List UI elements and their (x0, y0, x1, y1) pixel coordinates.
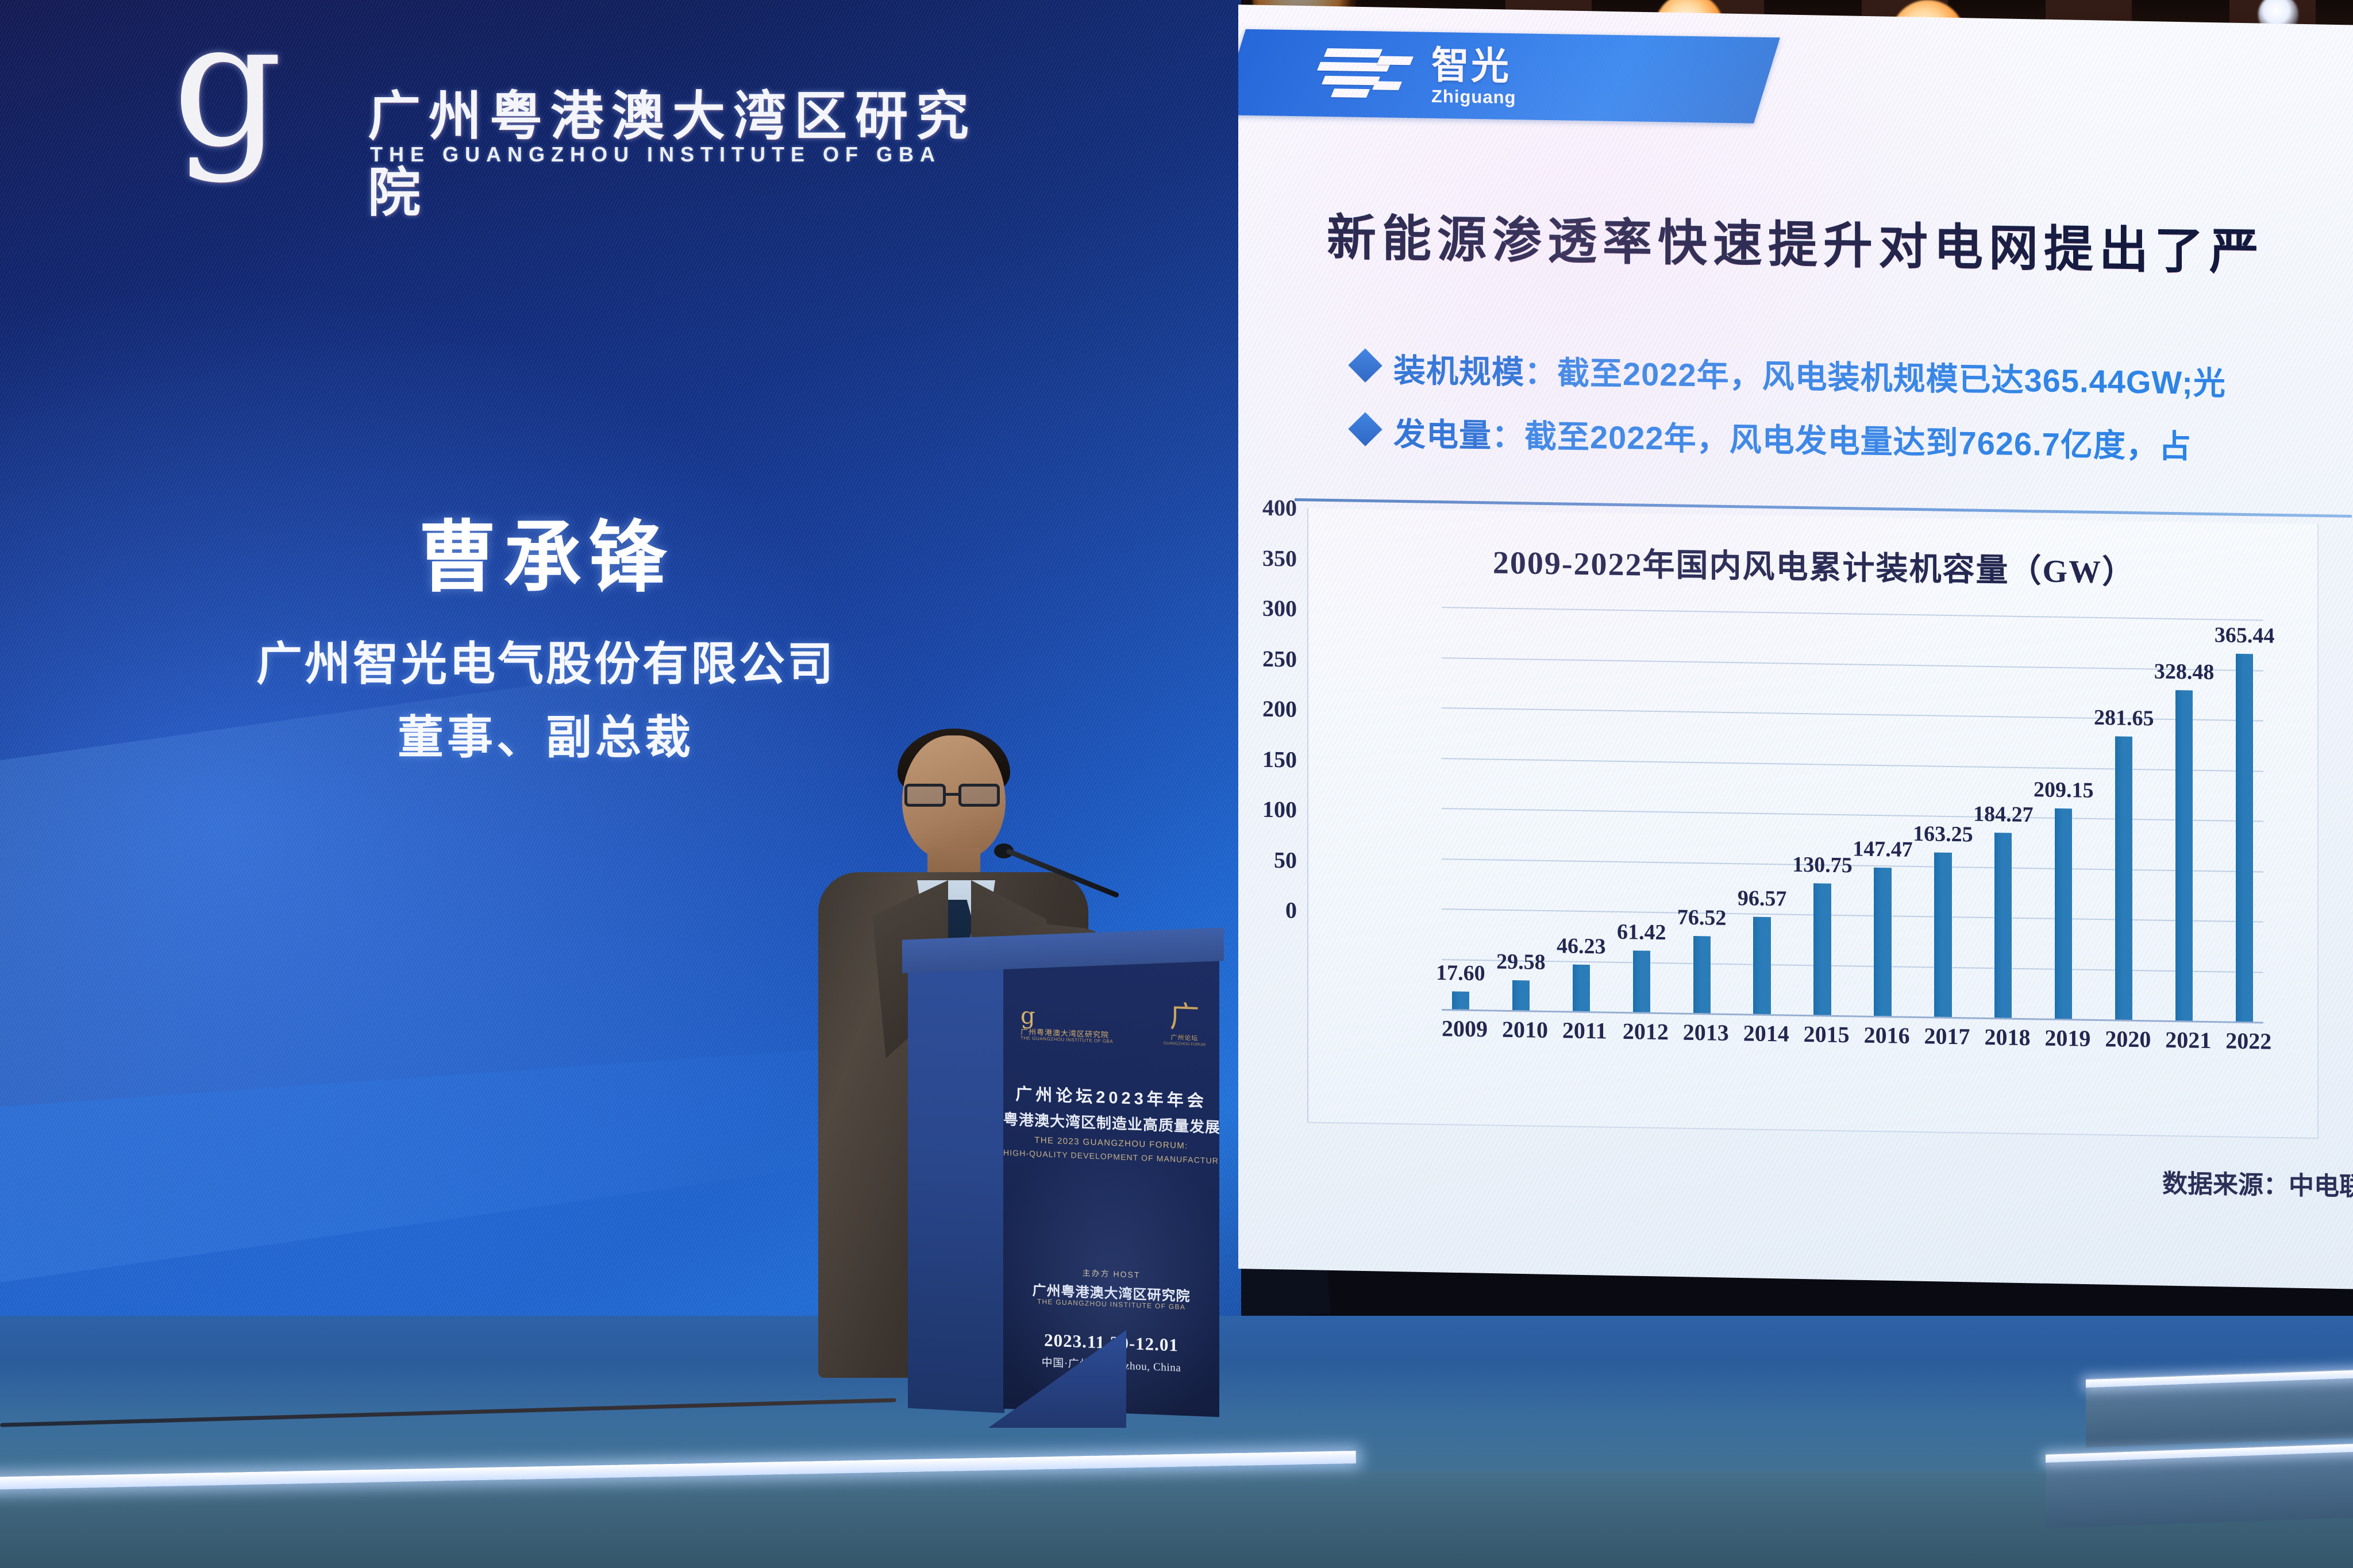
speaker-identity-block: 曹承锋 广州智光电气股份有限公司 董事、副总裁 (103, 494, 988, 767)
chart-bar-item: 46.23 (1562, 608, 1600, 1011)
y-tick-label: 400 (1262, 494, 1297, 522)
x-tick-label: 2009 (1442, 1015, 1480, 1042)
podium-headline: 广州论坛2023年年会 (1003, 1080, 1219, 1112)
chart-bar-item: 209.15 (2044, 617, 2082, 1019)
y-tick-label: 200 (1262, 695, 1297, 723)
podium-host-label: 主办方 HOST (1003, 1264, 1219, 1284)
x-tick-label: 2019 (2044, 1024, 2082, 1052)
bar-value-label: 17.60 (1436, 960, 1485, 986)
chart-bar-item: 184.27 (1984, 615, 2022, 1018)
bar-value-label: 365.44 (2215, 623, 2275, 649)
bullet-item: 发电量：截至2022年，风电发电量达到7626.7亿度，占 (1353, 408, 2353, 472)
zhiguang-bars-icon (1319, 46, 1411, 103)
chart-bar-item: 61.42 (1623, 610, 1661, 1012)
bar-value-label: 209.15 (2034, 777, 2094, 803)
bar-value-label: 147.47 (1853, 836, 1913, 862)
institute-logo-lockup: g 广州粤港澳大湾区研究院 THE GUANGZHOU INSTITUTE OF… (172, 6, 988, 190)
bullet-lead: 发电量 (1393, 416, 1492, 454)
y-tick-label: 50 (1274, 846, 1297, 874)
bar-value-label: 61.42 (1617, 919, 1666, 945)
institute-name-en: THE GUANGZHOU INSTITUTE OF GBA (370, 142, 941, 167)
stage-front-face (0, 1471, 2353, 1568)
chart-bar (1512, 980, 1530, 1010)
podium-forum-logo: 广 广州论坛 GUANGZHOU FORUM (1164, 1003, 1206, 1047)
zhiguang-name-en: Zhiguang (1431, 87, 1516, 106)
podium-subline: 粤港澳大湾区制造业高质量发展 (1003, 1108, 1219, 1137)
chart-bar (1693, 936, 1711, 1013)
bar-value-label: 130.75 (1792, 852, 1853, 879)
slide-bullet-list: 装机规模：截至2022年，风电装机规模已达365.44GW;光 发电量：截至20… (1353, 344, 2353, 489)
bar-value-label: 29.58 (1496, 949, 1546, 975)
y-tick-label: 100 (1262, 796, 1297, 823)
chart-bar (2236, 654, 2253, 1022)
podium-gba-en: THE GUANGZHOU INSTITUTE OF GBA (1020, 1036, 1113, 1045)
presentation-slide: 智光 Zhiguang 新能源渗透率快速提升对电网提出了严 装机规模：截至202… (1238, 5, 2353, 1289)
podium: g 广州粤港澳大湾区研究院 THE GUANGZHOU INSTITUTE OF… (902, 934, 1224, 1422)
chart-bar (2055, 808, 2072, 1019)
zhiguang-logo-badge: 智光 Zhiguang (1238, 29, 1780, 124)
podium-gba-mark: g (1020, 1004, 1113, 1031)
stage-photo: g 广州粤港澳大湾区研究院 THE GUANGZHOU INSTITUTE OF… (0, 0, 2353, 1568)
chart-bar-item: 96.57 (1743, 611, 1781, 1014)
y-tick-label: 0 (1285, 896, 1297, 923)
glasses-icon (903, 784, 1006, 808)
diamond-bullet-icon (1348, 412, 1382, 446)
speaker-organization: 广州智光电气股份有限公司 (103, 627, 988, 694)
bar-value-label: 328.48 (2154, 659, 2215, 685)
chart-bar (1573, 965, 1590, 1011)
x-tick-label: 2021 (2165, 1026, 2203, 1054)
chart-bar (2175, 690, 2193, 1020)
x-tick-label: 2013 (1683, 1019, 1721, 1046)
chart-bar-item: 147.47 (1864, 614, 1902, 1016)
zhiguang-name-cn: 智光 (1431, 45, 1516, 84)
bar-value-label: 96.57 (1738, 885, 1787, 911)
chart-bar-item: 76.52 (1683, 611, 1721, 1014)
x-tick-label: 2016 (1864, 1022, 1902, 1049)
bar-value-label: 184.27 (1973, 801, 2034, 827)
x-tick-label: 2015 (1804, 1020, 1842, 1048)
y-tick-label: 300 (1262, 595, 1297, 622)
x-tick-label: 2022 (2225, 1027, 2263, 1055)
x-tick-label: 2017 (1924, 1022, 1962, 1050)
podium-host-cn: 广州粤港澳大湾区研究院 (1003, 1278, 1219, 1306)
podium-forum-cap: 广州论坛 (1164, 1032, 1206, 1043)
chart-bar-item: 281.65 (2105, 617, 2143, 1020)
chart-bar (1874, 868, 1891, 1016)
speaker-name: 曹承锋 (103, 494, 988, 607)
x-tick-label: 2012 (1623, 1018, 1661, 1045)
podium-english-line-1: THE 2023 GUANGZHOU FORUM: (1003, 1134, 1219, 1152)
chart-bar-item: 130.75 (1804, 612, 1842, 1015)
bar-value-label: 163.25 (1913, 821, 1973, 847)
chart-panel: 2009-2022年国内风电累计装机容量（GW） 050100150200250… (1307, 508, 2319, 1139)
diamond-bullet-icon (1348, 348, 1382, 382)
y-tick-label: 150 (1262, 745, 1297, 773)
bullet-text: ：截至2022年，风电发电量达到7626.7亿度，占 (1492, 417, 2192, 464)
x-tick-label: 2018 (1984, 1023, 2022, 1051)
chart-source-note: 数据来源：中电联 (2162, 1163, 2353, 1203)
x-tick-label: 2020 (2105, 1025, 2143, 1053)
podium-gba-logo: g 广州粤港澳大湾区研究院 THE GUANGZHOU INSTITUTE OF… (1020, 1004, 1113, 1044)
bar-value-label: 46.23 (1557, 933, 1606, 959)
chart-bar (2115, 737, 2132, 1020)
podium-english-line-2: HIGH-QUALITY DEVELOPMENT OF MANUFACTURIN… (1003, 1148, 1219, 1165)
chart-bar (1934, 853, 1951, 1017)
bullet-lead: 装机规模 (1393, 352, 1524, 391)
bar-value-label: 76.52 (1677, 905, 1727, 931)
chart-bar (1813, 883, 1831, 1015)
x-tick-label: 2010 (1502, 1016, 1540, 1043)
chart-bar (1994, 833, 2012, 1018)
podium-logo-row: g 广州粤港澳大湾区研究院 THE GUANGZHOU INSTITUTE OF… (1003, 989, 1219, 1066)
bullet-item: 装机规模：截至2022年，风电装机规模已达365.44GW;光 (1353, 344, 2353, 408)
bar-value-label: 281.65 (2094, 705, 2154, 731)
y-tick-label: 250 (1262, 645, 1297, 672)
chart-bar-item: 17.60 (1442, 607, 1480, 1010)
chart-bar-item: 365.44 (2225, 619, 2263, 1022)
chart-title: 2009-2022年国内风电累计装机容量（GW） (1308, 533, 2320, 596)
podium-forum-mark: 广 (1164, 1003, 1206, 1031)
chart-y-axis-ticks: 050100150200250300350400 (1238, 506, 1297, 910)
bullet-text: ：截至2022年，风电装机规模已达365.44GW;光 (1524, 354, 2226, 401)
chart-bar (1452, 992, 1469, 1010)
x-tick-label: 2014 (1743, 1019, 1781, 1047)
chart-bar-item: 163.25 (1924, 614, 1962, 1017)
x-tick-label: 2011 (1562, 1016, 1600, 1044)
chart-bar-item: 29.58 (1502, 608, 1540, 1011)
podium-gba-cn: 广州粤港澳大湾区研究院 (1020, 1028, 1113, 1039)
podium-side-panel (908, 954, 1004, 1413)
institute-g-mark: g (172, 10, 287, 177)
y-tick-label: 350 (1262, 544, 1297, 572)
podium-forum-cap-en: GUANGZHOU FORUM (1164, 1041, 1206, 1047)
chart-bars: 17.6029.5846.2361.4276.5296.57130.75147.… (1442, 607, 2263, 1022)
slide-title: 新能源渗透率快速提升对电网提出了严 (1238, 196, 2353, 285)
chart-bar-item: 328.48 (2165, 618, 2203, 1021)
chart-bar (1633, 950, 1650, 1012)
podium-host-en: THE GUANGZHOU INSTITUTE OF GBA (1003, 1296, 1219, 1312)
chart-plot-area: 17.6029.5846.2361.4276.5296.57130.75147.… (1442, 607, 2263, 1022)
chart-bar (1753, 917, 1770, 1014)
